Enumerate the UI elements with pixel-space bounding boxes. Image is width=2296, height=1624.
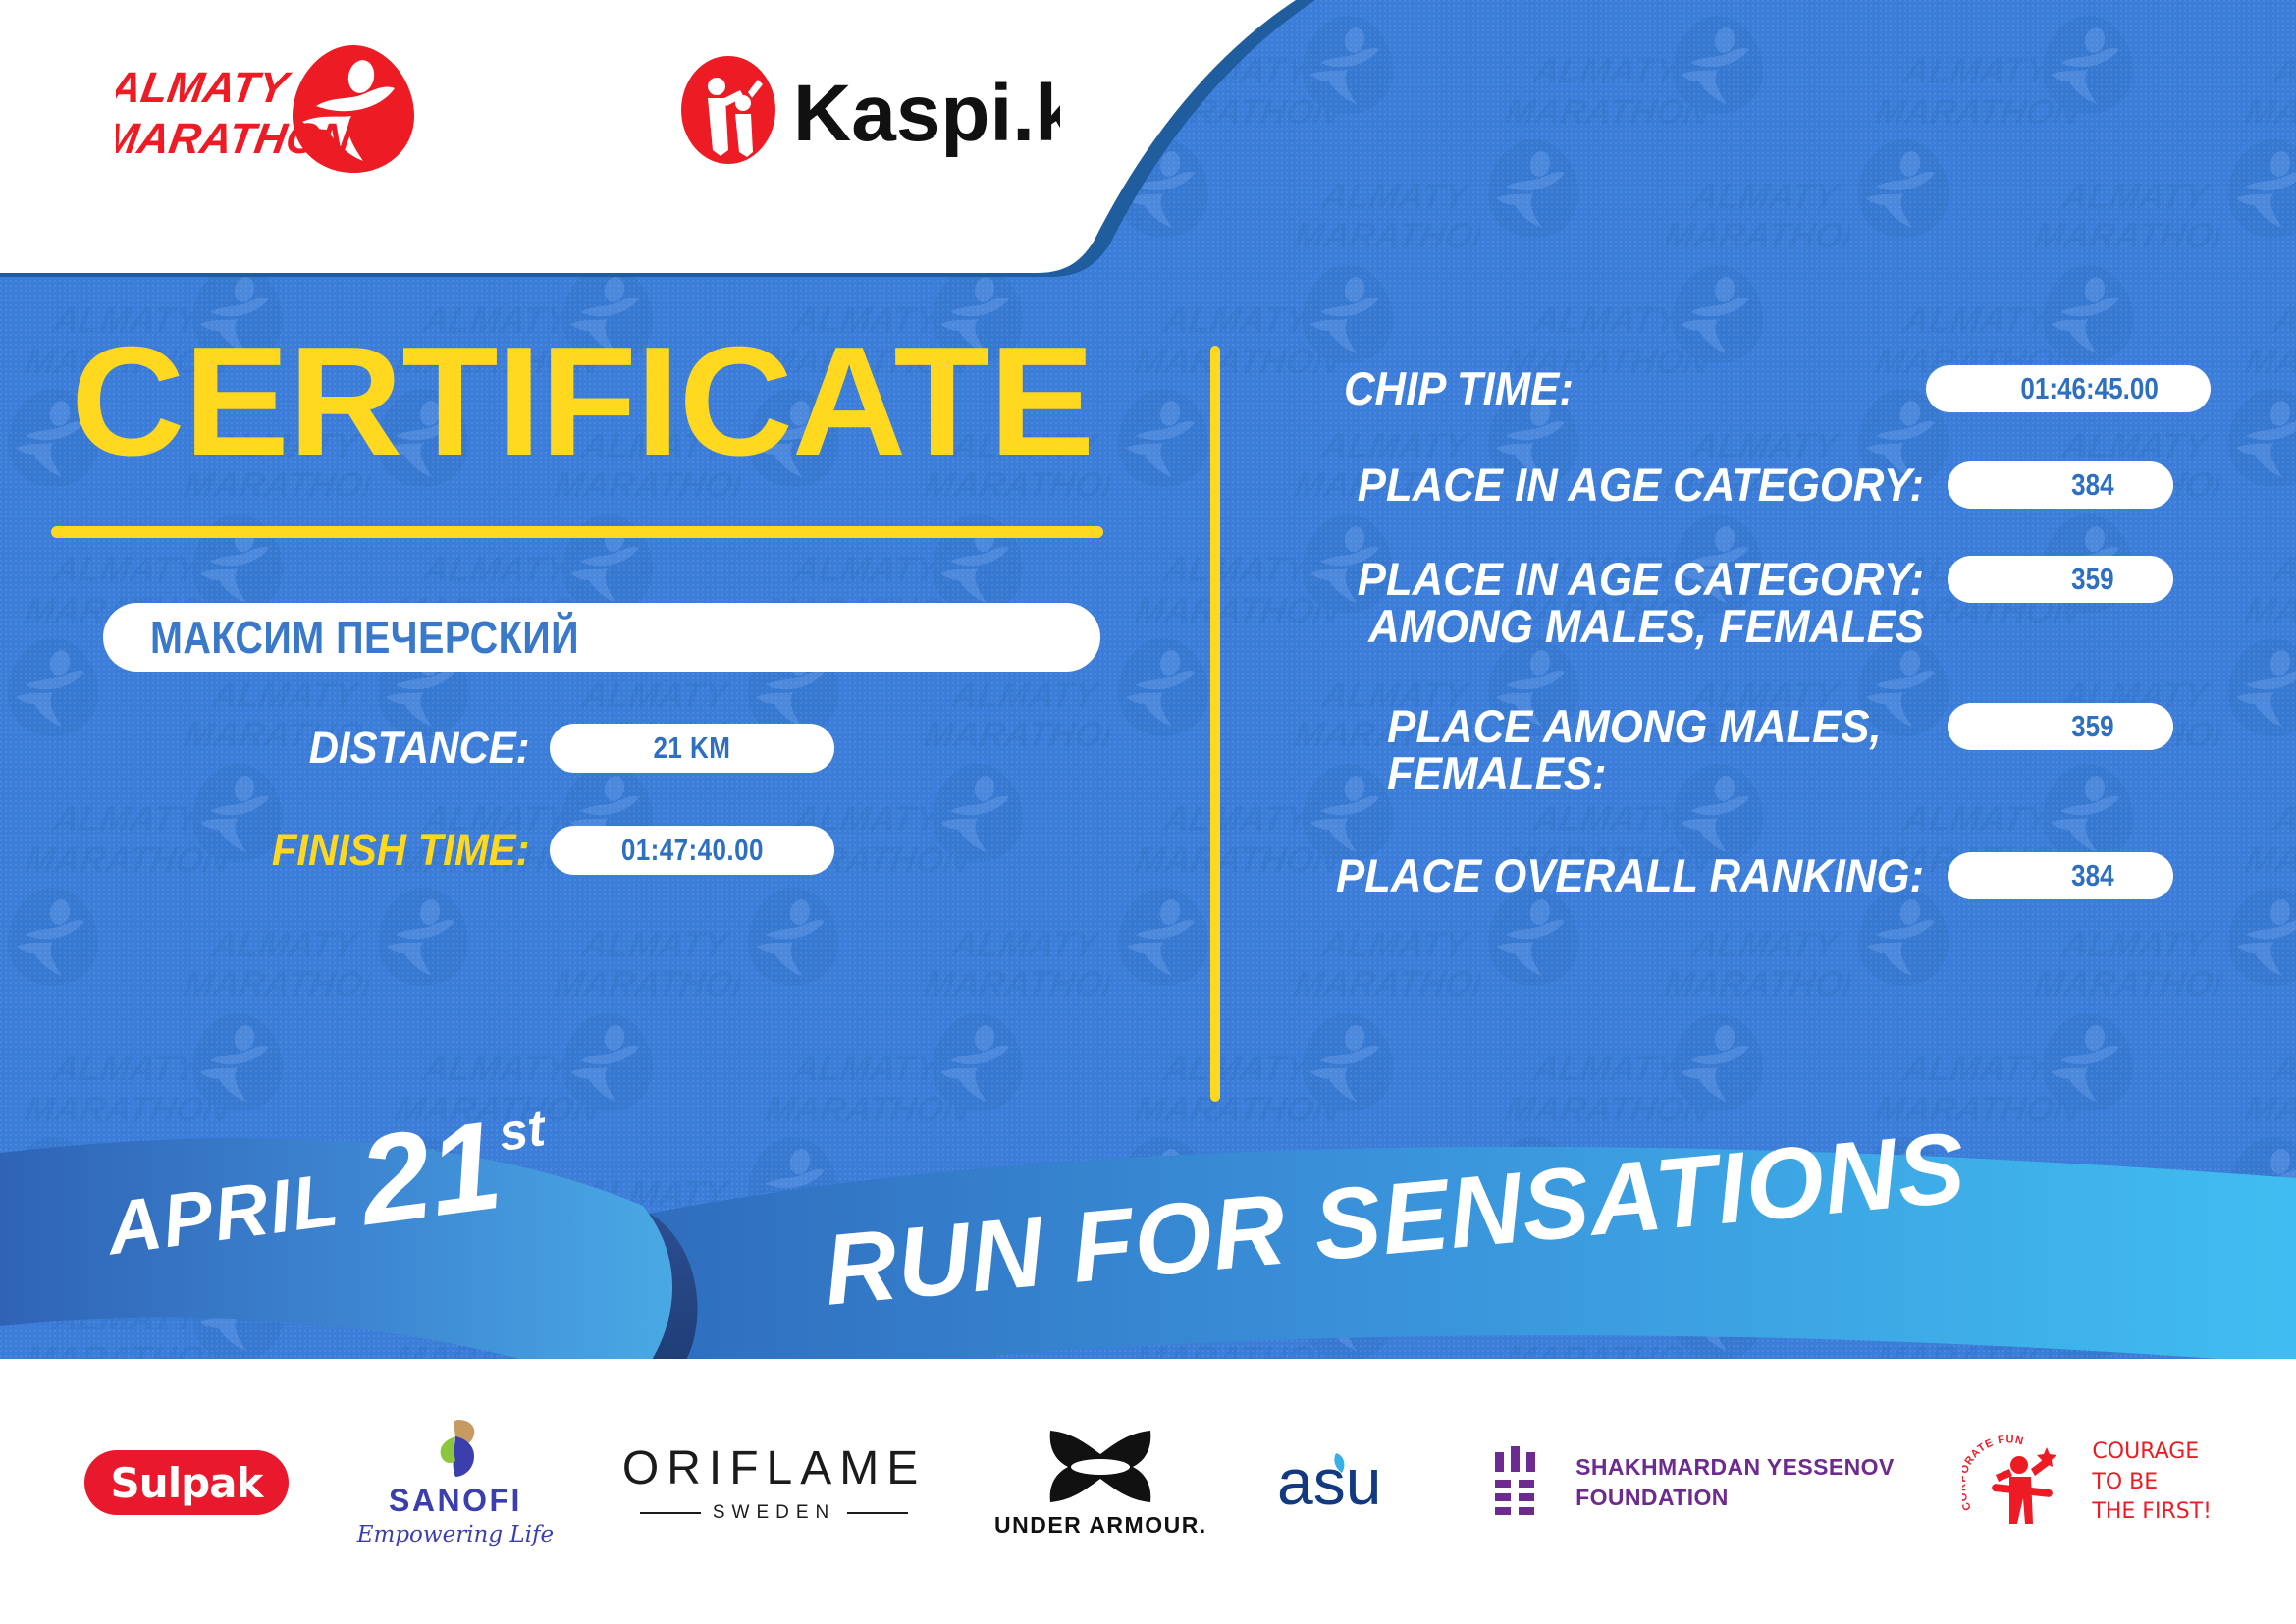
result-value: 01:46:45.00 (2020, 371, 2158, 406)
participant-name: МАКСИМ ПЕЧЕРСКИЙ (150, 611, 579, 664)
title-divider (51, 526, 1103, 538)
result-pill: 384 (1948, 461, 2173, 509)
almaty-logo-line1: ALMATY (116, 64, 294, 112)
left-column: CERTIFICATE МАКСИМ ПЕЧЕРСКИЙ DISTANCE: 2… (0, 324, 1158, 876)
sponsor-item: CORPORATE FUND COURAGE TO BE THE FIRST! (1962, 1430, 2212, 1536)
distance-value: 21 KM (654, 731, 731, 766)
under-armour-label: UNDER ARMOUR. (994, 1512, 1207, 1539)
finish-time-label: FINISH TIME: (38, 825, 550, 876)
result-pill: 01:46:45.00 (1926, 365, 2211, 412)
header-logos: ALMATY MARATHON Kaspi.kz (0, 0, 1178, 201)
page-title: CERTIFICATE (71, 324, 1132, 479)
result-value: 359 (2071, 709, 2113, 744)
finish-time-row: FINISH TIME: 01:47:40.00 (0, 825, 1158, 876)
sulpak-label: Sulpak (111, 1459, 263, 1507)
sponsor-item: UNDER ARMOUR. (994, 1428, 1207, 1539)
asu-label: asu (1277, 1445, 1381, 1518)
result-label: PLACE IN AGE CATEGORY: (1304, 461, 1924, 509)
courage-to-be-first-logo: CORPORATE FUND (1962, 1430, 2080, 1536)
result-value: 359 (2071, 562, 2113, 597)
asu-logo: asu (1275, 1443, 1422, 1522)
result-pill: 359 (1948, 556, 2173, 603)
kaspi-logo: Kaspi.kz (677, 54, 1060, 167)
rule-right (847, 1512, 908, 1514)
finish-time-value: 01:47:40.00 (620, 833, 763, 868)
almaty-logo-line2: MARATHON (116, 115, 355, 163)
result-row: PLACE AMONG MALES, FEMALES: 359 (1256, 703, 2277, 797)
result-label: PLACE OVERALL RANKING: (1304, 852, 1924, 899)
distance-label: DISTANCE: (38, 723, 550, 774)
sponsor-item: SANOFI Empowering Life (357, 1418, 554, 1547)
sponsor-item: Sulpak (84, 1450, 289, 1515)
result-pill: 359 (1948, 703, 2173, 750)
result-value: 384 (2071, 858, 2113, 893)
yessenov-label: SHAKHMARDAN YESSENOV FOUNDATION (1575, 1452, 1895, 1513)
sponsor-item: SHAKHMARDAN YESSENOV FOUNDATION (1491, 1444, 1895, 1521)
kaspi-wordmark: Kaspi.kz (793, 69, 1060, 158)
rule-left (640, 1512, 701, 1514)
sanofi-tagline: Empowering Life (357, 1522, 554, 1547)
result-row: PLACE IN AGE CATEGORY: 384 (1256, 461, 2277, 509)
result-pill: 384 (1948, 852, 2173, 899)
sponsor-bar: Sulpak SANOFI Empowering Life ORIFLAME S… (0, 1359, 2296, 1624)
oriflame-sub: SWEDEN (640, 1502, 908, 1524)
courage-tagline: COURAGE TO BE THE FIRST! (2092, 1437, 2212, 1527)
participant-name-field: МАКСИМ ПЕЧЕРСКИЙ (103, 603, 1100, 672)
results-column: CHIP TIME: 01:46:45.00 PLACE IN AGE CATE… (1256, 365, 2277, 909)
sponsor-item: ORIFLAME SWEDEN (622, 1441, 926, 1524)
result-row: CHIP TIME: 01:46:45.00 (1256, 365, 2277, 412)
result-label: PLACE AMONG MALES, FEMALES: (1304, 703, 1924, 797)
distance-row: DISTANCE: 21 KM (0, 723, 1158, 774)
result-row: PLACE IN AGE CATEGORY: AMONG MALES, FEMA… (1256, 556, 2277, 650)
certificate-canvas: ALMATY MARATHON Kaspi.kz (0, 0, 2296, 1624)
oriflame-label: ORIFLAME (622, 1441, 926, 1495)
result-label: PLACE IN AGE CATEGORY: AMONG MALES, FEMA… (1304, 556, 1924, 650)
sulpak-logo: Sulpak (84, 1450, 289, 1515)
result-label: CHIP TIME: (1302, 365, 1904, 412)
result-row: PLACE OVERALL RANKING: 384 (1256, 852, 2277, 899)
sanofi-label: SANOFI (389, 1483, 522, 1519)
distance-pill: 21 KM (550, 724, 834, 773)
oriflame-sub-label: SWEDEN (713, 1502, 835, 1524)
sponsor-item: asu (1275, 1443, 1422, 1522)
kaspi-people-circle-icon: Kaspi.kz (677, 54, 1060, 167)
event-day: 21 (353, 1106, 507, 1242)
column-divider (1210, 346, 1220, 1102)
almaty-marathon-logo: ALMATY MARATHON (116, 41, 440, 179)
under-armour-logo (1042, 1428, 1158, 1504)
runner-teardrop-icon: ALMATY MARATHON (116, 41, 440, 179)
finish-time-pill: 01:47:40.00 (550, 826, 834, 875)
yessenov-foundation-logo (1491, 1444, 1554, 1521)
result-value: 384 (2071, 467, 2113, 503)
sanofi-logo (425, 1418, 486, 1479)
